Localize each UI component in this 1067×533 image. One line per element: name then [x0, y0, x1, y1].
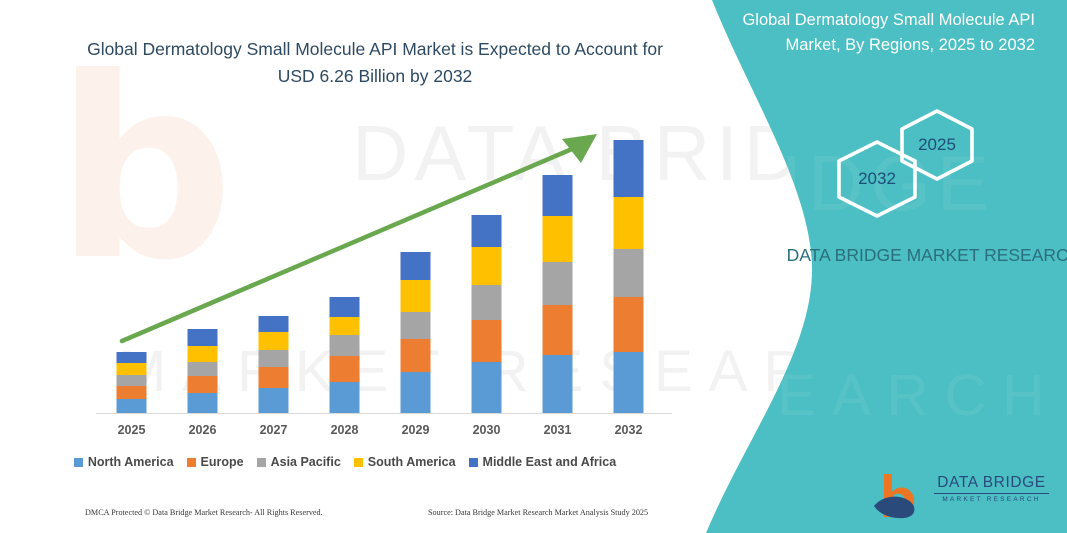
bar-segment	[330, 297, 360, 317]
legend-swatch-icon	[354, 458, 363, 467]
bar-segment	[330, 317, 360, 335]
hexagon-badge-2032: 2032	[833, 139, 921, 219]
legend-item: South America	[354, 455, 456, 469]
legend-item: Europe	[187, 455, 244, 469]
hexagon-label-2032: 2032	[858, 169, 896, 189]
footer-source: Source: Data Bridge Market Research Mark…	[428, 508, 648, 517]
legend-item: Middle East and Africa	[469, 455, 617, 469]
b-bridge-logo-mark	[872, 472, 932, 520]
bar-segment	[614, 197, 644, 249]
bar-segment	[472, 215, 502, 247]
legend-swatch-icon	[257, 458, 266, 467]
bar-segment	[401, 252, 431, 280]
x-axis-tick-2025: 2025	[96, 423, 167, 437]
data-bridge-logo: DATA BRIDGE MARKET RESEARCH	[872, 472, 1047, 520]
legend-item: North America	[74, 455, 174, 469]
legend-label: Europe	[201, 455, 244, 469]
panel-brand-text: DATA BRIDGE MARKET RESEARCH	[784, 242, 1067, 268]
bar-segment	[614, 249, 644, 297]
chart-legend: North AmericaEuropeAsia PacificSouth Ame…	[0, 455, 690, 469]
legend-label: South America	[368, 455, 456, 469]
bar-segment	[401, 280, 431, 312]
logo-name: DATA BRIDGE	[934, 474, 1049, 494]
x-axis-tick-2026: 2026	[167, 423, 238, 437]
legend-label: Middle East and Africa	[483, 455, 617, 469]
b-letter-watermark: b	[55, 95, 245, 290]
legend-label: Asia Pacific	[271, 455, 341, 469]
legend-item: Asia Pacific	[257, 455, 341, 469]
x-axis-tick-2027: 2027	[238, 423, 309, 437]
panel-title: Global Dermatology Small Molecule API Ma…	[735, 8, 1035, 58]
logo-tagline: MARKET RESEARCH	[934, 496, 1049, 503]
infographic-root: b DATA BRIDGE MARKET RESEARCH Global Der…	[0, 0, 1067, 533]
panel-watermark-research: RESEARCH	[690, 363, 1060, 428]
x-axis-tick-2030: 2030	[451, 423, 522, 437]
bar-segment	[472, 285, 502, 320]
x-axis-tick-labels: 20252026202720282029203020312032	[96, 423, 672, 437]
hexagon-label-2025: 2025	[918, 135, 956, 155]
bar-segment	[401, 312, 431, 339]
bar-segment	[472, 247, 502, 285]
page-title: Global Dermatology Small Molecule API Ma…	[80, 36, 670, 90]
legend-label: North America	[88, 455, 174, 469]
bar-segment	[543, 262, 573, 305]
x-axis-tick-2029: 2029	[380, 423, 451, 437]
x-axis-tick-2031: 2031	[522, 423, 593, 437]
bar-segment	[259, 316, 289, 332]
legend-swatch-icon	[469, 458, 478, 467]
legend-swatch-icon	[187, 458, 196, 467]
x-axis-tick-2032: 2032	[593, 423, 664, 437]
footer-copyright: DMCA Protected © Data Bridge Market Rese…	[85, 508, 323, 517]
legend-swatch-icon	[74, 458, 83, 467]
x-axis-tick-2028: 2028	[309, 423, 380, 437]
bar-segment	[543, 216, 573, 262]
